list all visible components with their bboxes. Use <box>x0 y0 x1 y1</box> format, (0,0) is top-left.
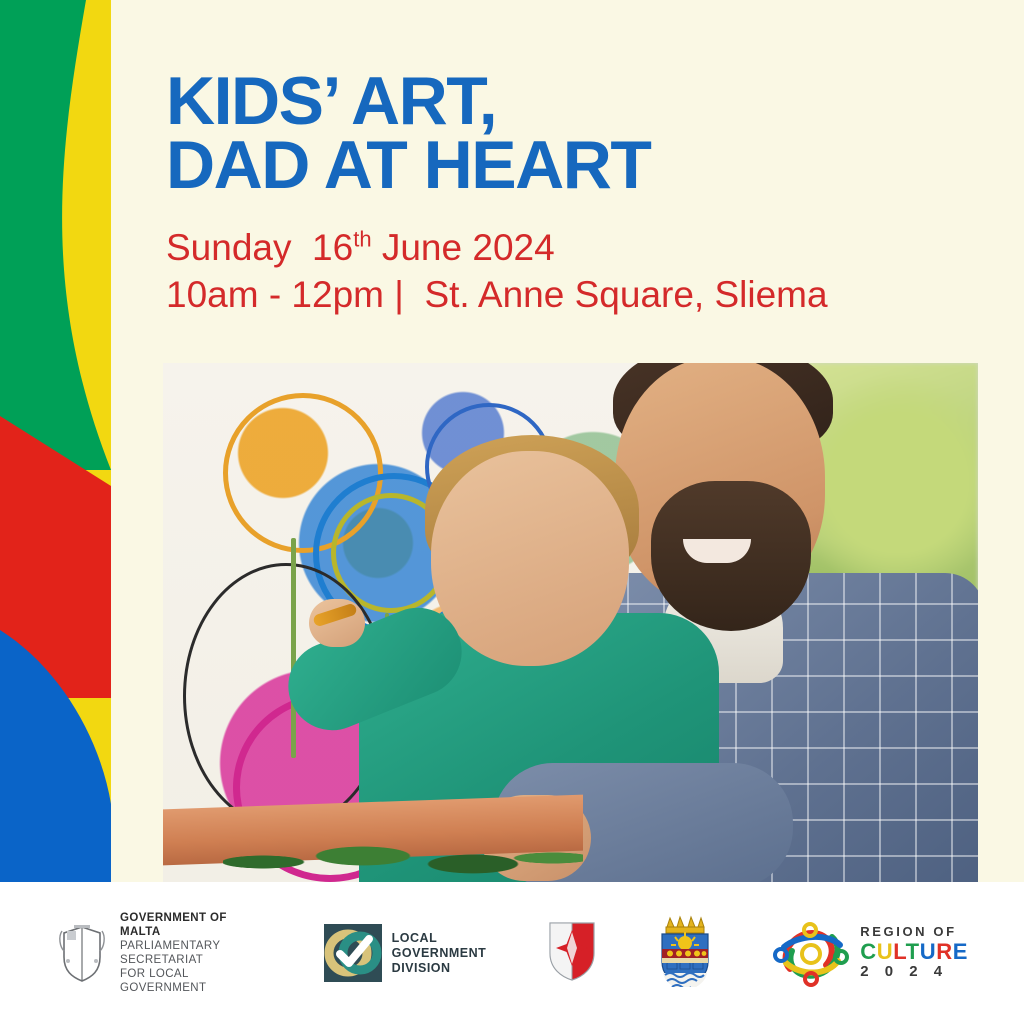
event-time-venue: 10am - 12pm | St. Anne Square, Sliema <box>166 271 966 318</box>
local-government-division-text: LOCAL GOVERNMENT DIVISION <box>392 931 487 976</box>
roc-word-culture: CULTURE <box>860 940 968 965</box>
lgd-line-3: DIVISION <box>392 961 487 976</box>
stripe-band-green <box>0 0 111 470</box>
event-date-prefix: Sunday 16 <box>166 227 353 268</box>
roc-letter: U <box>920 939 937 964</box>
photo-boy-head <box>431 451 629 666</box>
photo-foreground-plants <box>223 812 583 882</box>
event-details: Sunday 16th June 2024 10am - 12pm | St. … <box>166 224 966 319</box>
gov-line-1: GOVERNMENT OF MALTA <box>120 911 260 939</box>
footer-logo-bar: GOVERNMENT OF MALTA PARLIAMENTARY SECRET… <box>0 882 1024 1024</box>
logo-region-of-culture-2024: REGION OF CULTURE 2 0 2 4 <box>772 917 968 989</box>
event-photo: JOIN US <box>163 363 978 882</box>
logo-government-of-malta: GOVERNMENT OF MALTA PARLIAMENTARY SECRET… <box>56 911 260 995</box>
malta-coat-of-arms-icon <box>56 921 108 985</box>
mural-stem <box>291 538 296 758</box>
decorative-color-stripe <box>0 0 111 882</box>
gov-line-2: PARLIAMENTARY SECRETARIAT <box>120 939 260 967</box>
roc-letter: C <box>860 939 877 964</box>
page-title: KIDS’ ART, DAD AT HEART <box>166 70 966 198</box>
local-government-division-mark-icon <box>324 924 382 982</box>
sliema-crest-icon <box>654 915 716 992</box>
gov-line-3: FOR LOCAL GOVERNMENT <box>120 967 260 995</box>
event-date-suffix: June 2024 <box>372 227 555 268</box>
region-of-culture-text: REGION OF CULTURE 2 0 2 4 <box>860 925 968 981</box>
event-date: Sunday 16th June 2024 <box>166 224 966 271</box>
roc-letter: T <box>906 939 920 964</box>
roc-letter: L <box>893 939 905 964</box>
red-white-shield-icon <box>546 920 598 987</box>
logo-row: GOVERNMENT OF MALTA PARLIAMENTARY SECRET… <box>0 911 1024 995</box>
lgd-line-2: GOVERNMENT <box>392 946 487 961</box>
logo-red-white-shield-crest <box>546 920 598 987</box>
poster: KIDS’ ART, DAD AT HEART Sunday 16th June… <box>0 0 1024 1024</box>
logo-local-government-division: LOCAL GOVERNMENT DIVISION <box>324 924 487 982</box>
photo-layers <box>163 363 978 882</box>
headline-block: KIDS’ ART, DAD AT HEART Sunday 16th June… <box>166 70 966 319</box>
region-of-culture-people-icon <box>772 917 850 989</box>
event-date-ordinal: th <box>353 226 371 251</box>
title-line-2: DAD AT HEART <box>166 134 966 198</box>
roc-line-1: REGION OF <box>860 925 968 940</box>
logo-sliema-council-crest <box>654 915 716 992</box>
lgd-line-1: LOCAL <box>392 931 487 946</box>
roc-year: 2 0 2 4 <box>860 964 968 981</box>
government-of-malta-text: GOVERNMENT OF MALTA PARLIAMENTARY SECRET… <box>120 911 260 995</box>
roc-letter: R <box>936 939 953 964</box>
roc-letter: U <box>877 939 894 964</box>
roc-letter: E <box>953 939 968 964</box>
